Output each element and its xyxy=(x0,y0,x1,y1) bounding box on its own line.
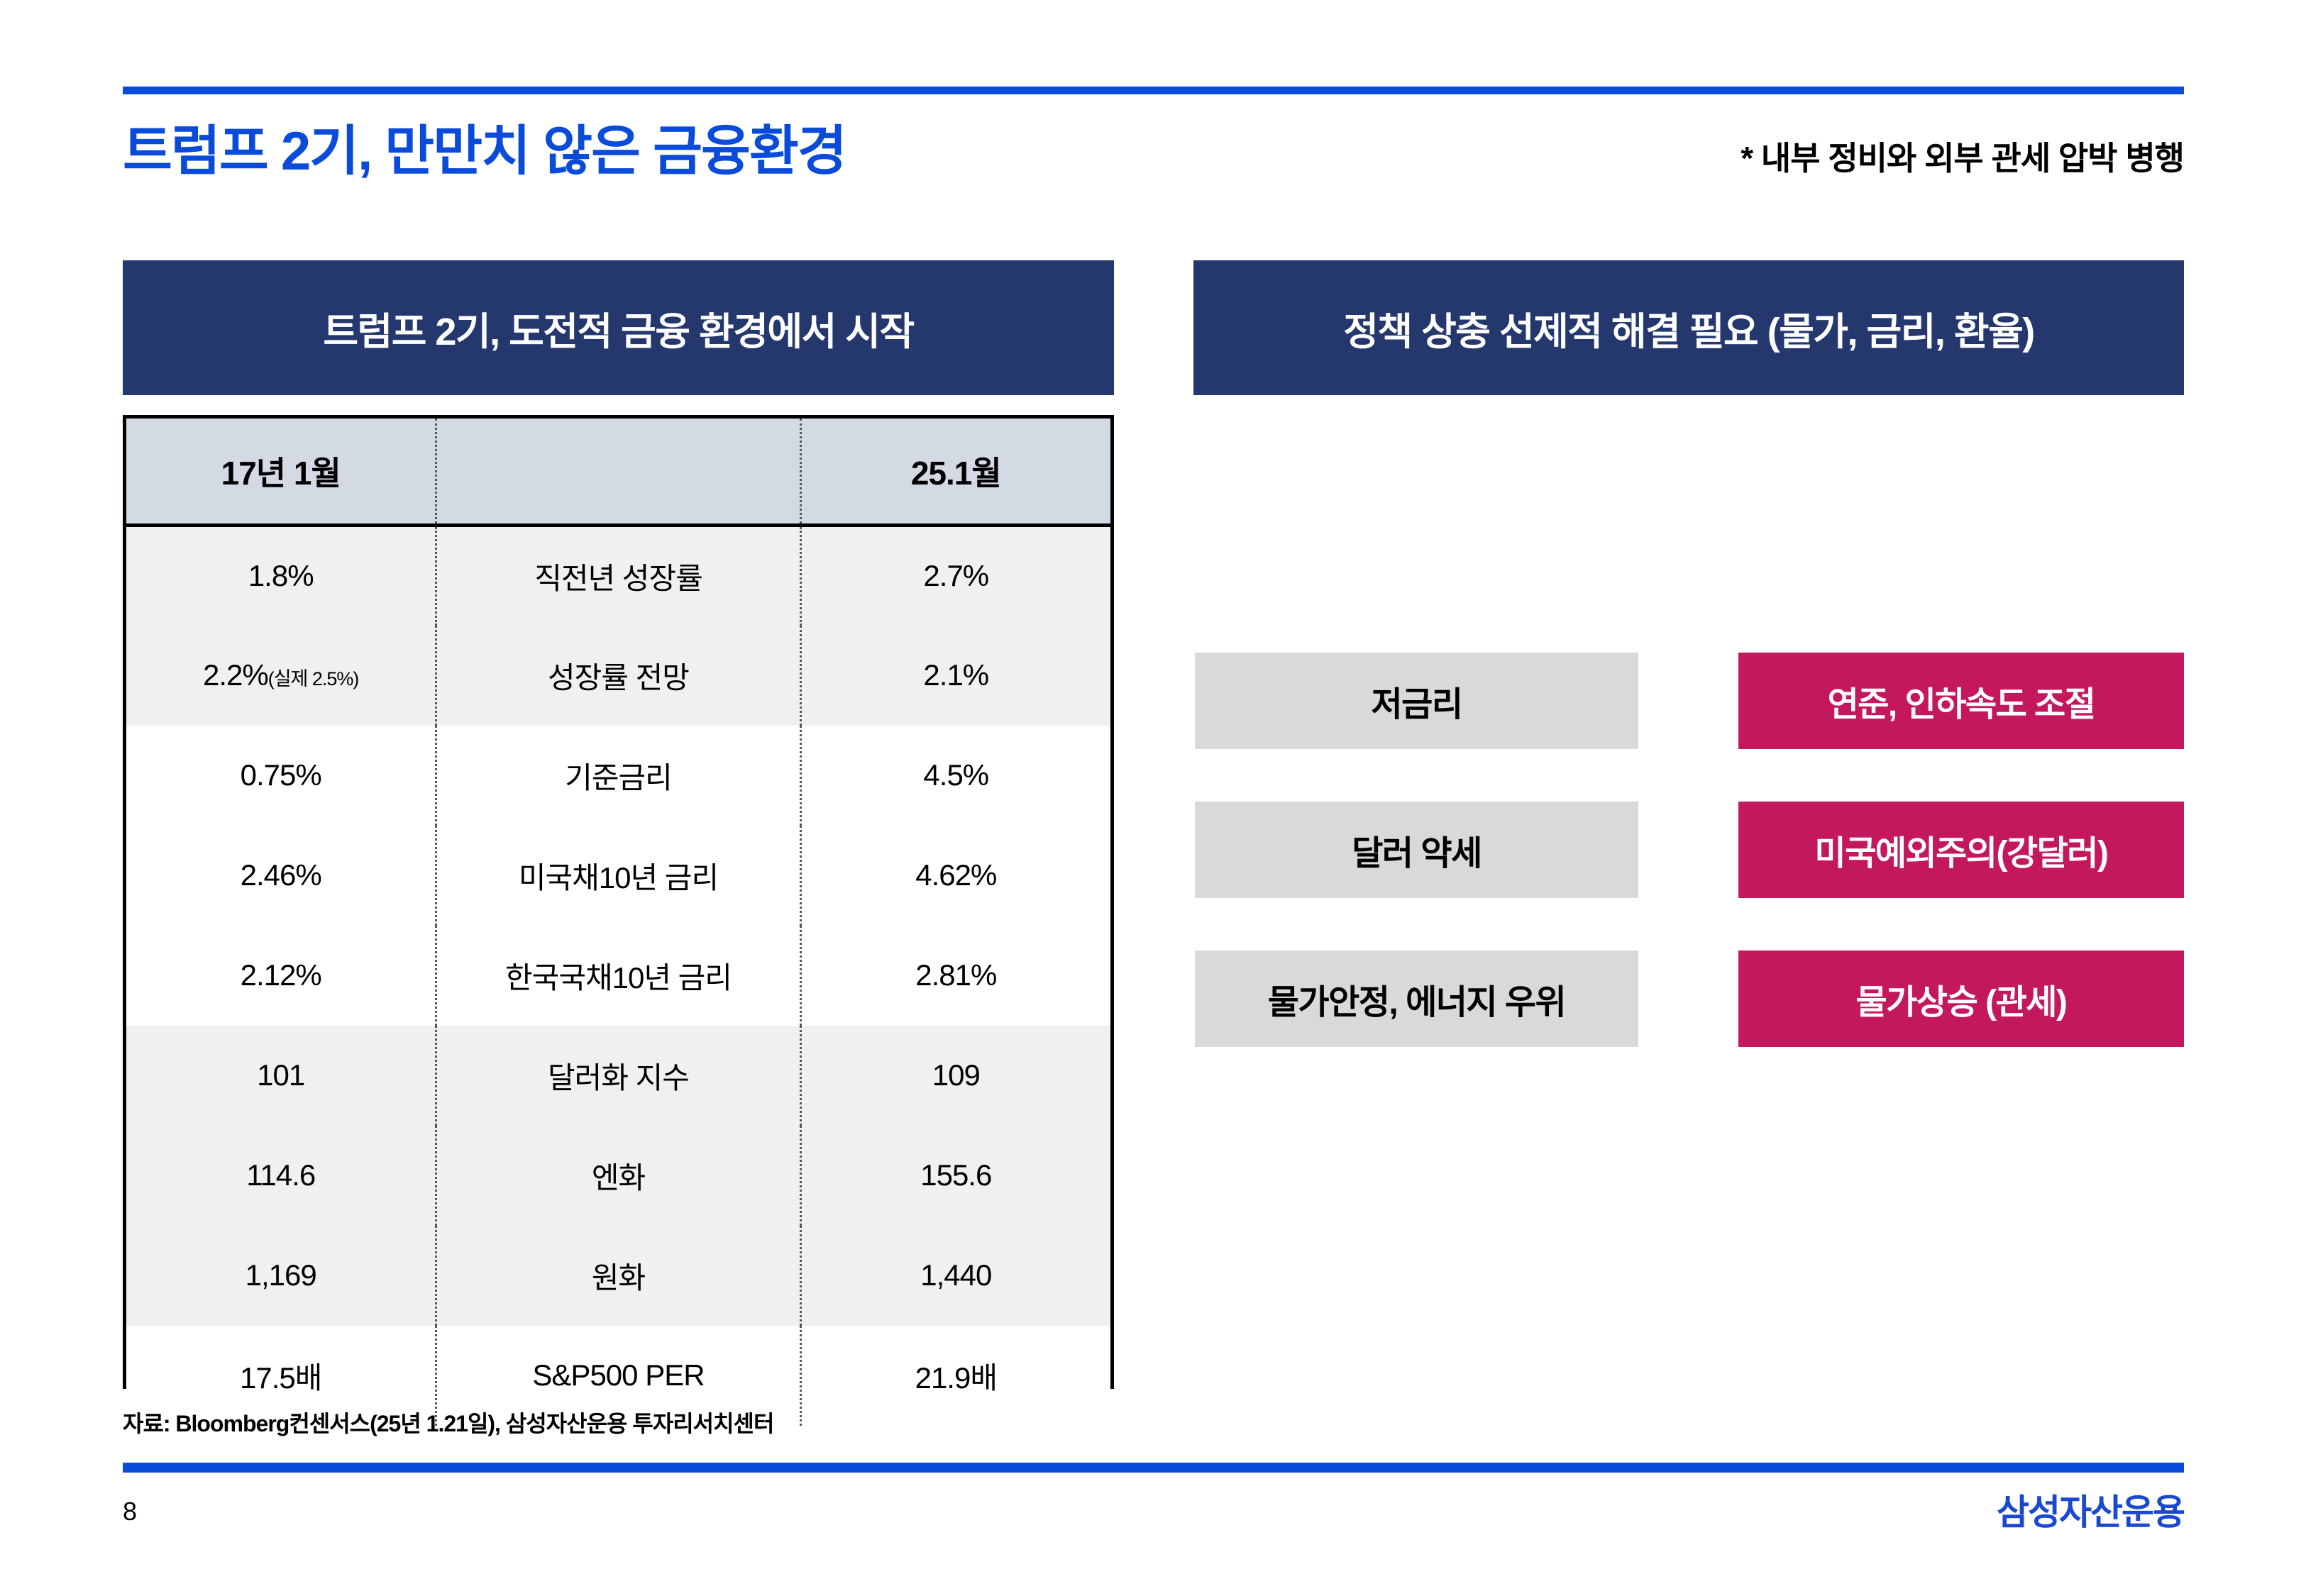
cell-value-2017-note: (실제 2.5%) xyxy=(268,668,359,689)
table-row: 0.75%기준금리4.5% xyxy=(126,726,1110,826)
cell-value-2017: 2.2%(실제 2.5%) xyxy=(126,626,436,726)
cell-metric-label: 직전년 성장률 xyxy=(436,526,800,626)
cell-metric-label: 성장률 전망 xyxy=(436,626,800,726)
top-accent-rule xyxy=(123,87,2184,94)
cell-value-2017: 114.6 xyxy=(126,1126,436,1226)
table-header-row: 17년 1월 25.1월 xyxy=(126,419,1110,526)
cell-metric-label: 엔화 xyxy=(436,1126,800,1226)
table-row: 2.46%미국채10년 금리4.62% xyxy=(126,826,1110,926)
cell-metric-label: 달러화 지수 xyxy=(436,1026,800,1126)
cell-metric-label: 기준금리 xyxy=(436,726,800,826)
page-number: 8 xyxy=(123,1497,137,1526)
table-row: 101달러화 지수109 xyxy=(126,1026,1110,1126)
column-header-metric xyxy=(436,419,800,526)
expected-condition-box-2: 달러 약세 xyxy=(1195,802,1638,898)
cell-value-2017: 101 xyxy=(126,1026,436,1126)
table-row: 1.8%직전년 성장률2.7% xyxy=(126,526,1110,626)
bottom-accent-rule xyxy=(123,1463,2184,1473)
cell-value-2025: 4.5% xyxy=(800,726,1110,826)
expected-condition-box-3: 물가안정, 에너지 우위 xyxy=(1195,951,1638,1047)
actual-condition-box-3: 물가상승 (관세) xyxy=(1738,951,2184,1047)
cell-metric-label: 한국국채10년 금리 xyxy=(436,926,800,1026)
cell-value-2017: 2.12% xyxy=(126,926,436,1026)
cell-value-2025: 1,440 xyxy=(800,1226,1110,1326)
cell-metric-label: 원화 xyxy=(436,1226,800,1326)
cell-value-2025: 2.1% xyxy=(800,626,1110,726)
left-panel-banner: 트럼프 2기, 도전적 금융 환경에서 시작 xyxy=(123,260,1114,395)
actual-condition-box-2: 미국예외주의(강달러) xyxy=(1738,802,2184,898)
table-header: 17년 1월 25.1월 xyxy=(126,419,1110,526)
cell-value-2025: 2.7% xyxy=(800,526,1110,626)
cell-value-2017: 1,169 xyxy=(126,1226,436,1326)
page-title: 트럼프 2기, 만만치 않은 금융환경 xyxy=(123,119,846,184)
source-note: 자료: Bloomberg컨센서스(25년 1.21일), 삼성자산운용 투자리… xyxy=(123,1406,773,1439)
right-panel-banner: 정책 상충 선제적 해결 필요 (물가, 금리, 환율) xyxy=(1193,260,2184,395)
table-body: 1.8%직전년 성장률2.7%2.2%(실제 2.5%)성장률 전망2.1%0.… xyxy=(126,526,1110,1426)
cell-value-2017: 0.75% xyxy=(126,726,436,826)
cell-value-2025: 4.62% xyxy=(800,826,1110,926)
cell-value-2025: 2.81% xyxy=(800,926,1110,1026)
table-row: 1,169원화1,440 xyxy=(126,1226,1110,1326)
cell-value-2017: 1.8% xyxy=(126,526,436,626)
brand-logo: 삼성자산운용 xyxy=(1997,1484,2184,1535)
title-note: * 내부 정비와 외부 관세 압박 병행 xyxy=(1740,139,2184,178)
cell-value-2017: 2.46% xyxy=(126,826,436,926)
table-row: 2.2%(실제 2.5%)성장률 전망2.1% xyxy=(126,626,1110,726)
cell-value-2025: 109 xyxy=(800,1026,1110,1126)
cell-value-2025: 21.9배 xyxy=(800,1326,1110,1426)
table-row: 114.6엔화155.6 xyxy=(126,1126,1110,1226)
expected-condition-box-1: 저금리 xyxy=(1195,653,1638,749)
table-row: 2.12%한국국채10년 금리2.81% xyxy=(126,926,1110,1026)
column-header-2025: 25.1월 xyxy=(800,419,1110,526)
actual-condition-box-1: 연준, 인하속도 조절 xyxy=(1738,653,2184,749)
comparison-table: 17년 1월 25.1월 1.8%직전년 성장률2.7%2.2%(실제 2.5%… xyxy=(126,419,1110,1426)
comparison-table-container: 17년 1월 25.1월 1.8%직전년 성장률2.7%2.2%(실제 2.5%… xyxy=(123,415,1114,1389)
cell-metric-label: 미국채10년 금리 xyxy=(436,826,800,926)
column-header-2017: 17년 1월 xyxy=(126,419,436,526)
cell-value-2025: 155.6 xyxy=(800,1126,1110,1226)
